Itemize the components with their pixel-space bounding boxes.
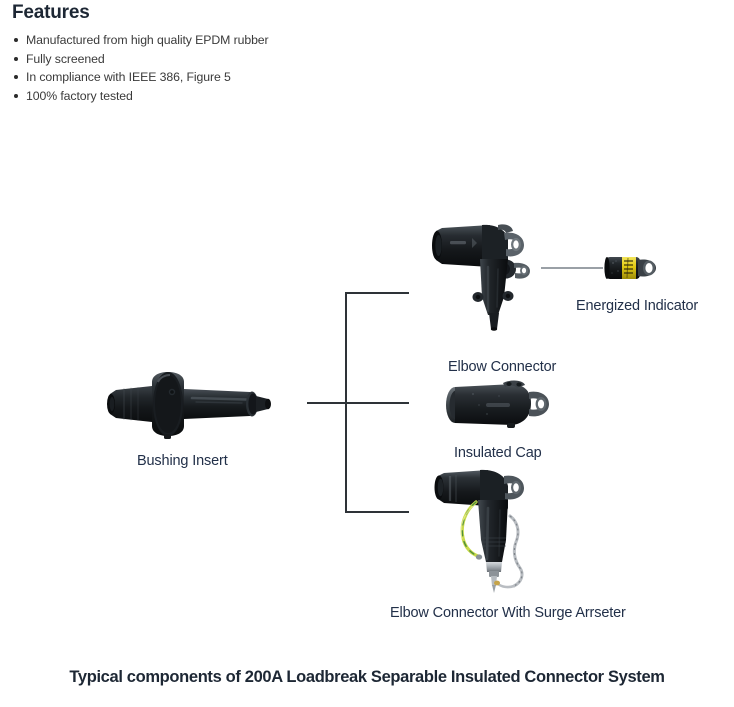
bracket-arm-to-insulated-cap [307,402,409,404]
leader-line-energized-indicator [541,267,603,269]
bracket-arm-to-surge-arrester [345,511,409,513]
label-elbow-with-surge-arrester: Elbow Connector With Surge Arrseter [390,604,626,622]
label-bushing-insert: Bushing Insert [137,452,228,470]
energized-indicator-image [604,252,660,284]
bushing-insert-image [100,368,280,440]
component-diagram: Bushing Insert [0,0,734,707]
elbow-connector-image [428,219,543,331]
bracket-arm-to-elbow-connector [345,292,409,294]
diagram-caption: Typical components of 200A Loadbreak Sep… [0,668,734,687]
label-insulated-cap: Insulated Cap [454,444,542,462]
label-energized-indicator: Energized Indicator [576,297,698,315]
label-elbow-connector: Elbow Connector [448,358,556,376]
elbow-with-surge-arrester-image [432,466,554,596]
insulated-cap-image [443,378,555,434]
